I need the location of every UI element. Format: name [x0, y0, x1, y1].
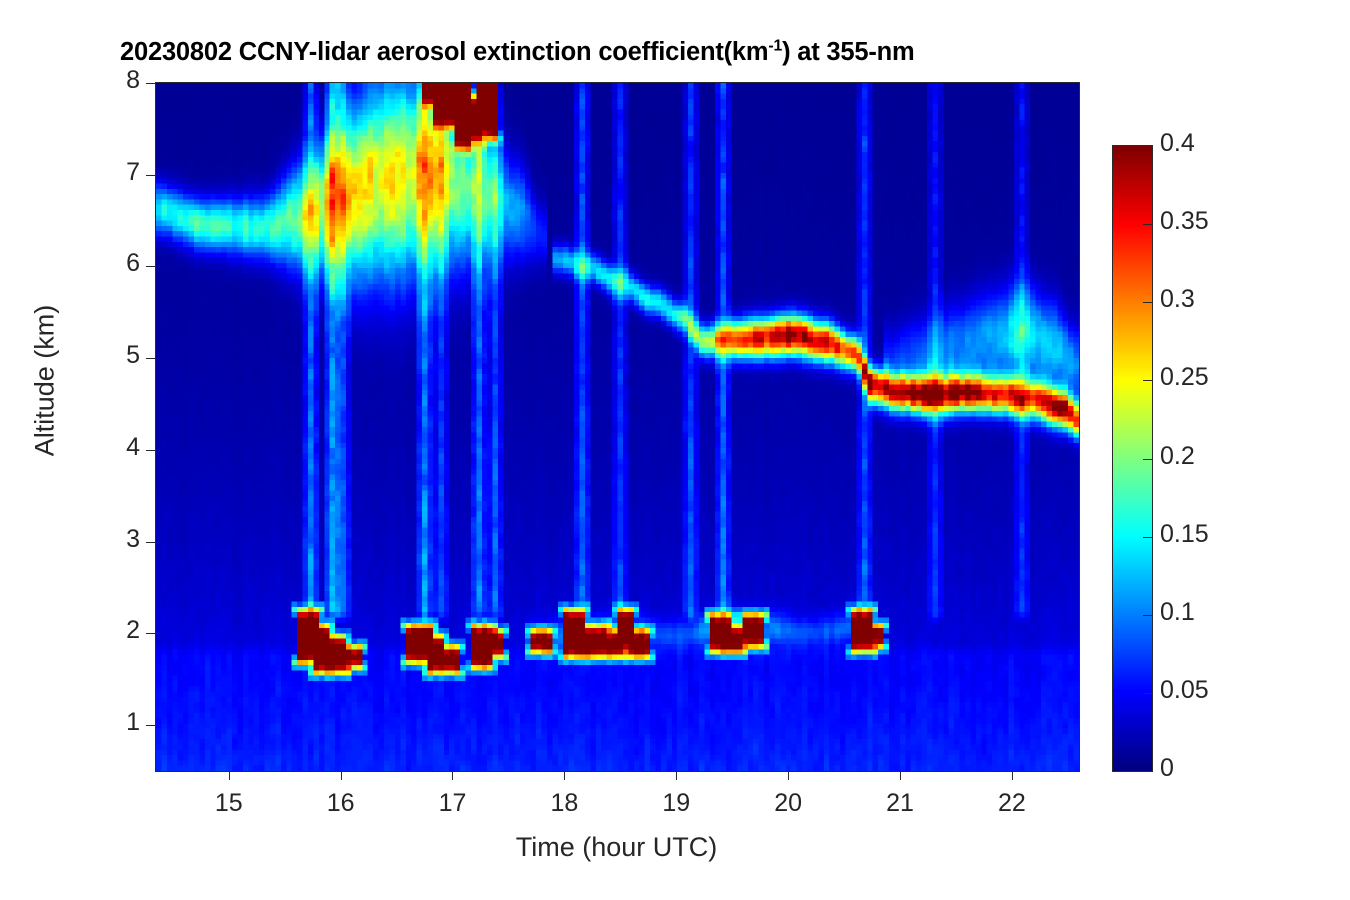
x-axis-tick-label: 22: [982, 789, 1042, 818]
x-axis-tick-label: 20: [758, 789, 818, 818]
colorbar-tick-label: 0.4: [1160, 129, 1195, 158]
y-axis-tick: [146, 725, 155, 726]
page-title: 20230802 CCNY-lidar aerosol extinction c…: [120, 38, 1120, 67]
y-axis-tick: [146, 83, 155, 84]
x-axis-tick: [452, 771, 453, 780]
y-axis-tick-label: 6: [98, 249, 140, 278]
y-axis-tick: [146, 633, 155, 634]
colorbar-tick-label: 0: [1160, 754, 1174, 783]
colorbar-tick: [1143, 224, 1152, 225]
colorbar-tick: [1143, 537, 1152, 538]
x-axis-tick: [676, 771, 677, 780]
y-axis-tick: [146, 266, 155, 267]
lidar-figure: 20230802 CCNY-lidar aerosol extinction c…: [0, 0, 1350, 900]
colorbar-tick-label: 0.3: [1160, 285, 1195, 314]
x-axis-tick-label: 19: [646, 789, 706, 818]
plot-axes: [155, 82, 1080, 772]
colorbar-tick-label: 0.35: [1160, 207, 1209, 236]
x-axis-tick-label: 17: [422, 789, 482, 818]
title-exponent: -1: [768, 38, 782, 55]
colorbar-tick-label: 0.1: [1160, 598, 1195, 627]
y-axis-tick-label: 5: [98, 341, 140, 370]
x-axis-tick-label: 21: [870, 789, 930, 818]
x-axis-tick-label: 15: [199, 789, 259, 818]
colorbar-tick: [1143, 693, 1152, 694]
colorbar-tick: [1143, 380, 1152, 381]
x-axis-tick: [1012, 771, 1013, 780]
colorbar-tick: [1143, 615, 1152, 616]
y-axis-tick-label: 1: [98, 708, 140, 737]
x-axis-label: Time (hour UTC): [0, 832, 1233, 863]
title-main: 20230802 CCNY-lidar aerosol extinction c…: [120, 38, 768, 66]
y-axis-tick: [146, 450, 155, 451]
x-axis-tick: [229, 771, 230, 780]
y-axis-tick: [146, 175, 155, 176]
y-axis-tick-label: 7: [98, 158, 140, 187]
y-axis-tick: [146, 358, 155, 359]
y-axis-tick: [146, 542, 155, 543]
colorbar-tick-label: 0.05: [1160, 676, 1209, 705]
y-axis-tick-label: 3: [98, 525, 140, 554]
x-axis-tick-label: 18: [534, 789, 594, 818]
x-axis-tick: [564, 771, 565, 780]
x-axis-tick-label: 16: [311, 789, 371, 818]
heatmap-image: [156, 83, 1079, 771]
x-axis-tick: [788, 771, 789, 780]
title-tail: ) at 355-nm: [782, 38, 914, 66]
colorbar-tick-label: 0.15: [1160, 520, 1209, 549]
colorbar-tick: [1143, 459, 1152, 460]
colorbar-tick-label: 0.2: [1160, 442, 1195, 471]
y-axis-label: Altitude (km): [30, 231, 61, 531]
y-axis-tick-label: 2: [98, 616, 140, 645]
colorbar-tick-label: 0.25: [1160, 363, 1209, 392]
x-axis-tick: [900, 771, 901, 780]
colorbar-tick: [1143, 302, 1152, 303]
y-axis-tick-label: 4: [98, 433, 140, 462]
x-axis-tick: [341, 771, 342, 780]
y-axis-tick-label: 8: [98, 66, 140, 95]
